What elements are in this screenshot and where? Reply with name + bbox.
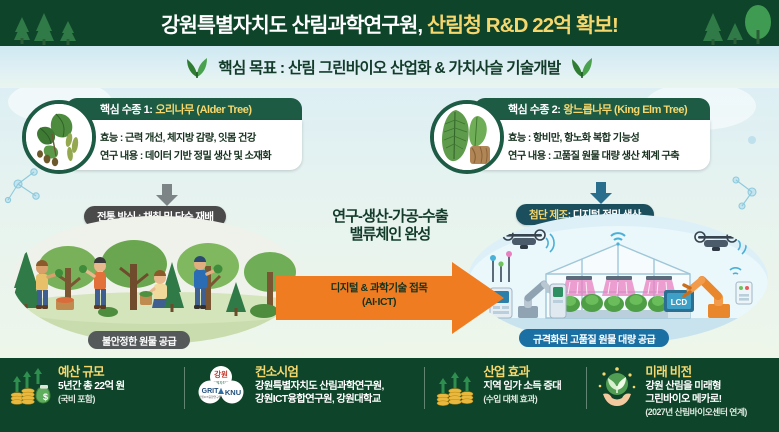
coin-stacks-icon <box>433 364 477 408</box>
consortium-line-1: 강원특별자치도 산림과학연구원, <box>255 380 384 393</box>
right-arrow-icon <box>276 262 504 334</box>
control-panel <box>736 282 752 304</box>
consortium-logos-icon: 강원 특별자치도 GRIT 강원ICT융합연구원 KNU <box>193 364 249 408</box>
poster-title-main: 강원특별자치도 산림과학연구원, <box>161 8 422 38</box>
industry-line-1: 지역 임가 소득 증대 <box>483 380 561 393</box>
hands-holding-sprout-icon <box>595 364 639 408</box>
alder-leaf-icon <box>22 100 96 174</box>
traditional-forest-harvest-illustration <box>12 216 302 344</box>
chevron-down-icon <box>154 182 180 208</box>
smart-greenhouse-illustration: LCD <box>468 214 768 344</box>
value-chain-line-2: 밸류체인 완성 <box>288 226 492 244</box>
species-card-2-body: 효능 : 항비만, 항노화 복합 기능성 연구 내용 : 고품질 원물 대량 생… <box>474 120 710 170</box>
consortium-line-2: 강원ICT융합연구원, 강원대학교 <box>255 393 384 406</box>
species-1-research: 연구 내용 : 데이터 기반 정밀 생산 및 소재화 <box>100 147 296 162</box>
value-chain-line-1: 연구-생산-가공-수출 <box>288 208 492 226</box>
elm-leaf-icon <box>430 100 504 174</box>
budget-line-2: (국비 포함) <box>58 393 125 405</box>
industry-title: 산업 효과 <box>483 365 561 380</box>
species-card-2[interactable]: 핵심 수종 2: 왕느릅나무 (King Elm Tree) 효능 : 항비만,… <box>430 98 710 176</box>
svg-text:강원ICT융합연구원: 강원ICT융합연구원 <box>199 395 222 399</box>
vision-line-1: 강원 산림을 미래형 <box>645 380 746 393</box>
summary-budget[interactable]: $ 예산 규모 5년간 총 22억 원 (국비 포함) <box>0 360 184 414</box>
budget-line-1: 5년간 총 22억 원 <box>58 380 125 393</box>
species-card-1-body: 효능 : 근력 개선, 체지방 감량, 잇몸 건강 연구 내용 : 데이터 기반… <box>66 120 302 170</box>
title-bar: 강원특별자치도 산림과학연구원, 산림청 R&D 22억 확보! <box>0 0 779 46</box>
species-1-name: 오리나무 (Alder Tree) <box>155 101 251 117</box>
bottom-summary-bar: $ 예산 규모 5년간 총 22억 원 (국비 포함) 강원 특별자치도 <box>0 358 779 432</box>
right-scene-caption: 규격화된 고품질 원물 대량 공급 <box>519 329 669 347</box>
species-card-1-header: 핵심 수종 1: 오리나무 (Alder Tree) <box>66 98 302 120</box>
budget-title: 예산 규모 <box>58 365 125 380</box>
summary-future-vision[interactable]: 미래 비전 강원 산림을 미래형 그린바이오 메카로! (2027년 산림바이오… <box>587 360 779 414</box>
main-illustration-area: 핵심 수종 1: 오리나무 (Alder Tree) 효능 : 근력 개선, 체… <box>0 88 779 358</box>
subtitle-band: 핵심 목표 : 산림 그린바이오 산업화 & 가치사슬 기술개발 <box>0 46 779 88</box>
species-2-prefix: 핵심 수종 2: <box>508 101 560 117</box>
control-terminal <box>550 284 566 318</box>
species-1-efficacy: 효능 : 근력 개선, 체지방 감량, 잇몸 건강 <box>100 129 296 144</box>
svg-text:GRIT: GRIT <box>202 388 219 395</box>
vision-line-2: (2027년 산림바이오센터 연계) <box>645 406 746 418</box>
species-2-research: 연구 내용 : 고품질 원물 대량 생산 체계 구축 <box>508 147 704 162</box>
left-scene-caption: 불안정한 원물 공급 <box>88 331 190 349</box>
svg-text:LCD: LCD <box>671 298 688 307</box>
right-scene-caption-label: 규격화된 고품질 원물 대량 공급 <box>533 331 655 346</box>
svg-text:$: $ <box>43 392 48 402</box>
industry-line-2: (수입 대체 효과) <box>483 393 561 405</box>
vision-line-1b: 그린바이오 메카로! <box>645 393 746 406</box>
money-growth-icon: $ <box>8 364 52 408</box>
value-chain-heading: 연구-생산-가공-수출 밸류체인 완성 <box>288 208 492 244</box>
species-2-efficacy: 효능 : 항비만, 항노화 복합 기능성 <box>508 129 704 144</box>
svg-text:KNU: KNU <box>225 388 241 397</box>
summary-consortium[interactable]: 강원 특별자치도 GRIT 강원ICT융합연구원 KNU 컨소시엄 강원특별자치… <box>185 360 424 414</box>
svg-text:강원: 강원 <box>214 369 228 379</box>
left-scene-caption-label: 불안정한 원물 공급 <box>102 333 176 348</box>
subtitle-text: 핵심 목표 : 산림 그린바이오 산업화 & 가치사슬 기술개발 <box>218 56 560 78</box>
chevron-down-icon <box>588 180 614 206</box>
species-2-name: 왕느릅나무 (King Elm Tree) <box>563 101 687 117</box>
species-card-1[interactable]: 핵심 수종 1: 오리나무 (Alder Tree) 효능 : 근력 개선, 체… <box>22 98 302 176</box>
leaf-icon <box>184 55 210 79</box>
vision-title: 미래 비전 <box>645 365 746 380</box>
poster-title-highlight: 산림청 R&D 22억 확보! <box>427 8 618 38</box>
leaf-icon <box>569 55 595 79</box>
summary-industry-effect[interactable]: 산업 효과 지역 임가 소득 증대 (수입 대체 효과) <box>425 360 586 414</box>
consortium-title: 컨소시엄 <box>255 365 384 380</box>
species-card-2-header: 핵심 수종 2: 왕느릅나무 (King Elm Tree) <box>474 98 710 120</box>
species-1-prefix: 핵심 수종 1: <box>100 101 152 117</box>
infographic-poster: 강원특별자치도 산림과학연구원, 산림청 R&D 22억 확보! 핵심 목표 :… <box>0 0 779 432</box>
